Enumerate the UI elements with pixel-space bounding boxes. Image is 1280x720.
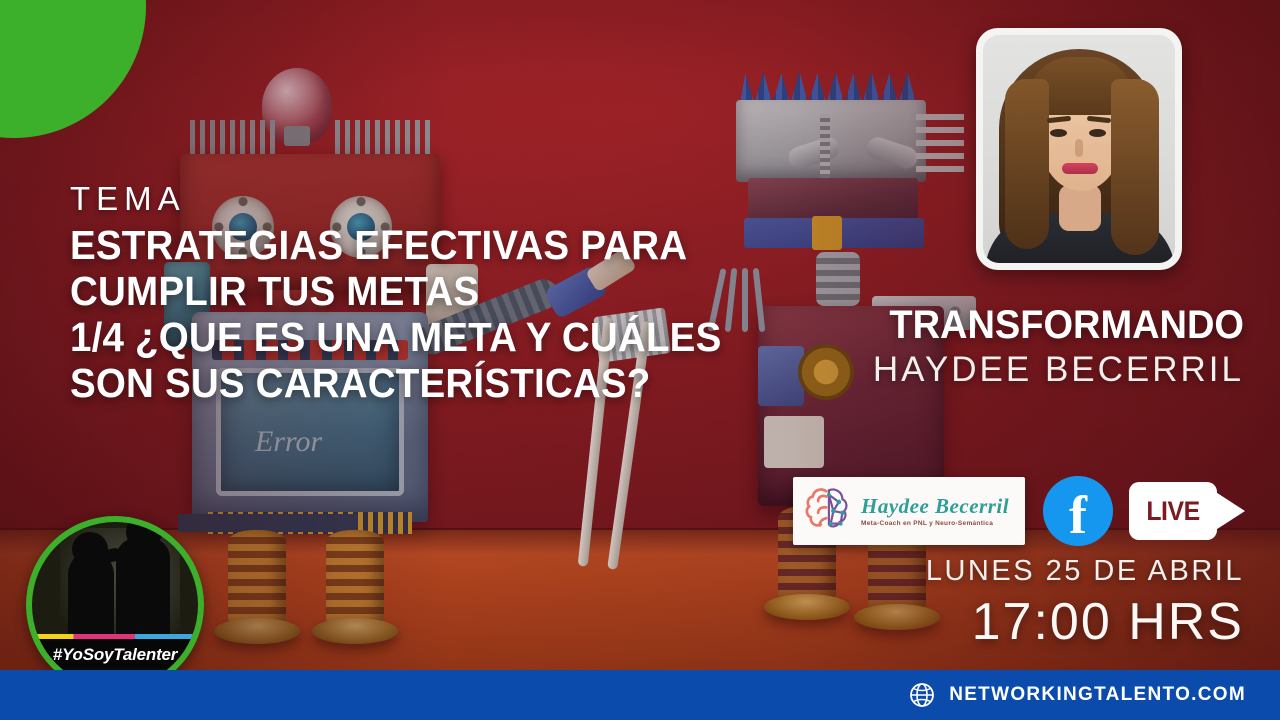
event-time: 17:00 HRS (972, 592, 1244, 652)
footer-bar: NETWORKINGTALENTO.COM (0, 670, 1280, 720)
logo-tagline: Meta-Coach en PNL y Neuro-Semántica (861, 520, 1017, 527)
logo-script-name: Haydee Becerril (861, 495, 1017, 517)
event-date: LUNES 25 DE ABRIL (926, 555, 1244, 588)
speaker-portrait-frame (976, 28, 1182, 270)
presenter-name: HAYDEE BECERRIL (774, 352, 1244, 387)
video-camera-icon (1211, 489, 1245, 533)
facebook-glyph: f (1069, 488, 1087, 542)
topic-text-block: TEMA ESTRATEGIAS EFECTIVAS PARA CUMPLIR … (70, 182, 810, 407)
globe-icon (909, 682, 935, 708)
live-label: LIVE (1146, 496, 1199, 527)
topic-headline: ESTRATEGIAS EFECTIVAS PARA CUMPLIR TUS M… (70, 223, 766, 407)
speaker-portrait-photo (983, 35, 1175, 263)
website-url[interactable]: NETWORKINGTALENTO.COM (949, 684, 1246, 706)
presenter-text-block: TRANSFORMANDO HAYDEE BECERRIL (774, 305, 1244, 387)
live-badge: LIVE (1129, 482, 1247, 540)
headline-line-3: 1/4 ¿QUE ES UNA META Y CUÁLES (70, 315, 766, 361)
facebook-icon[interactable]: f (1043, 476, 1113, 546)
topic-eyebrow-label: TEMA (70, 182, 810, 215)
livestream-promo-banner: Error (0, 0, 1280, 720)
brain-network-icon (801, 484, 855, 538)
headline-line-1: ESTRATEGIAS EFECTIVAS PARA (70, 223, 766, 269)
headline-line-4: SON SUS CARACTERÍSTICAS? (70, 361, 766, 407)
badge-hashtag: #YoSoyTalenter (53, 645, 177, 665)
program-title: TRANSFORMANDO (798, 305, 1245, 345)
haydee-becerril-logo-card: Haydee Becerril Meta-Coach en PNL y Neur… (793, 477, 1025, 545)
yosoytalenter-badge: #YoSoyTalenter (26, 516, 204, 694)
headline-line-2: CUMPLIR TUS METAS (70, 269, 766, 315)
